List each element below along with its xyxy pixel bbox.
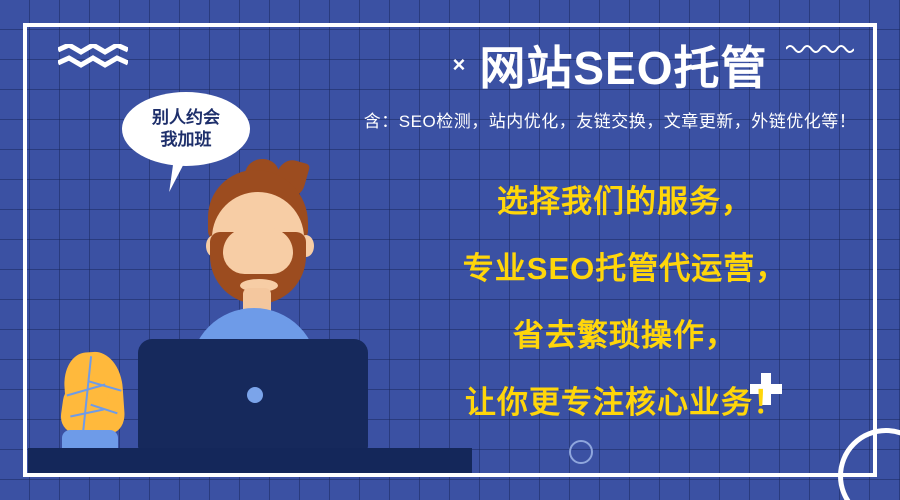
small-circle-icon: [569, 440, 593, 464]
headline-line-3: 省去繁琐操作，: [410, 320, 840, 351]
desk-surface: [28, 448, 472, 474]
laptop-logo-dot: [247, 387, 263, 403]
title-row: × 网站SEO托管: [330, 42, 890, 95]
headline-block: 选择我们的服务， 专业SEO托管代运营， 省去繁琐操作， 让你更专注核心业务！: [410, 186, 840, 418]
headline-line-4: 让你更专注核心业务！: [410, 387, 840, 418]
speech-bubble-line-1: 别人约会: [152, 107, 220, 129]
corner-circle-icon: [838, 428, 900, 500]
wave-lines-icon: [58, 44, 128, 68]
seo-promo-banner: 别人约会 我加班 × 网站SEO托管 含：SEO检测，站内优化，友链交换，文章更…: [0, 0, 900, 500]
page-title: 网站SEO托管: [479, 42, 767, 95]
page-subtitle: 含：SEO检测，站内优化，友链交换，文章更新，外链优化等！: [330, 107, 890, 132]
close-x-icon: ×: [452, 54, 465, 82]
speech-bubble-line-2: 我加班: [161, 129, 212, 151]
title-block: × 网站SEO托管 含：SEO检测，站内优化，友链交换，文章更新，外链优化等！: [330, 42, 890, 132]
headline-line-2: 专业SEO托管代运营，: [410, 253, 840, 284]
headline-line-1: 选择我们的服务，: [410, 186, 840, 217]
face-skin: [223, 228, 293, 274]
speech-bubble: 别人约会 我加班: [122, 92, 250, 166]
